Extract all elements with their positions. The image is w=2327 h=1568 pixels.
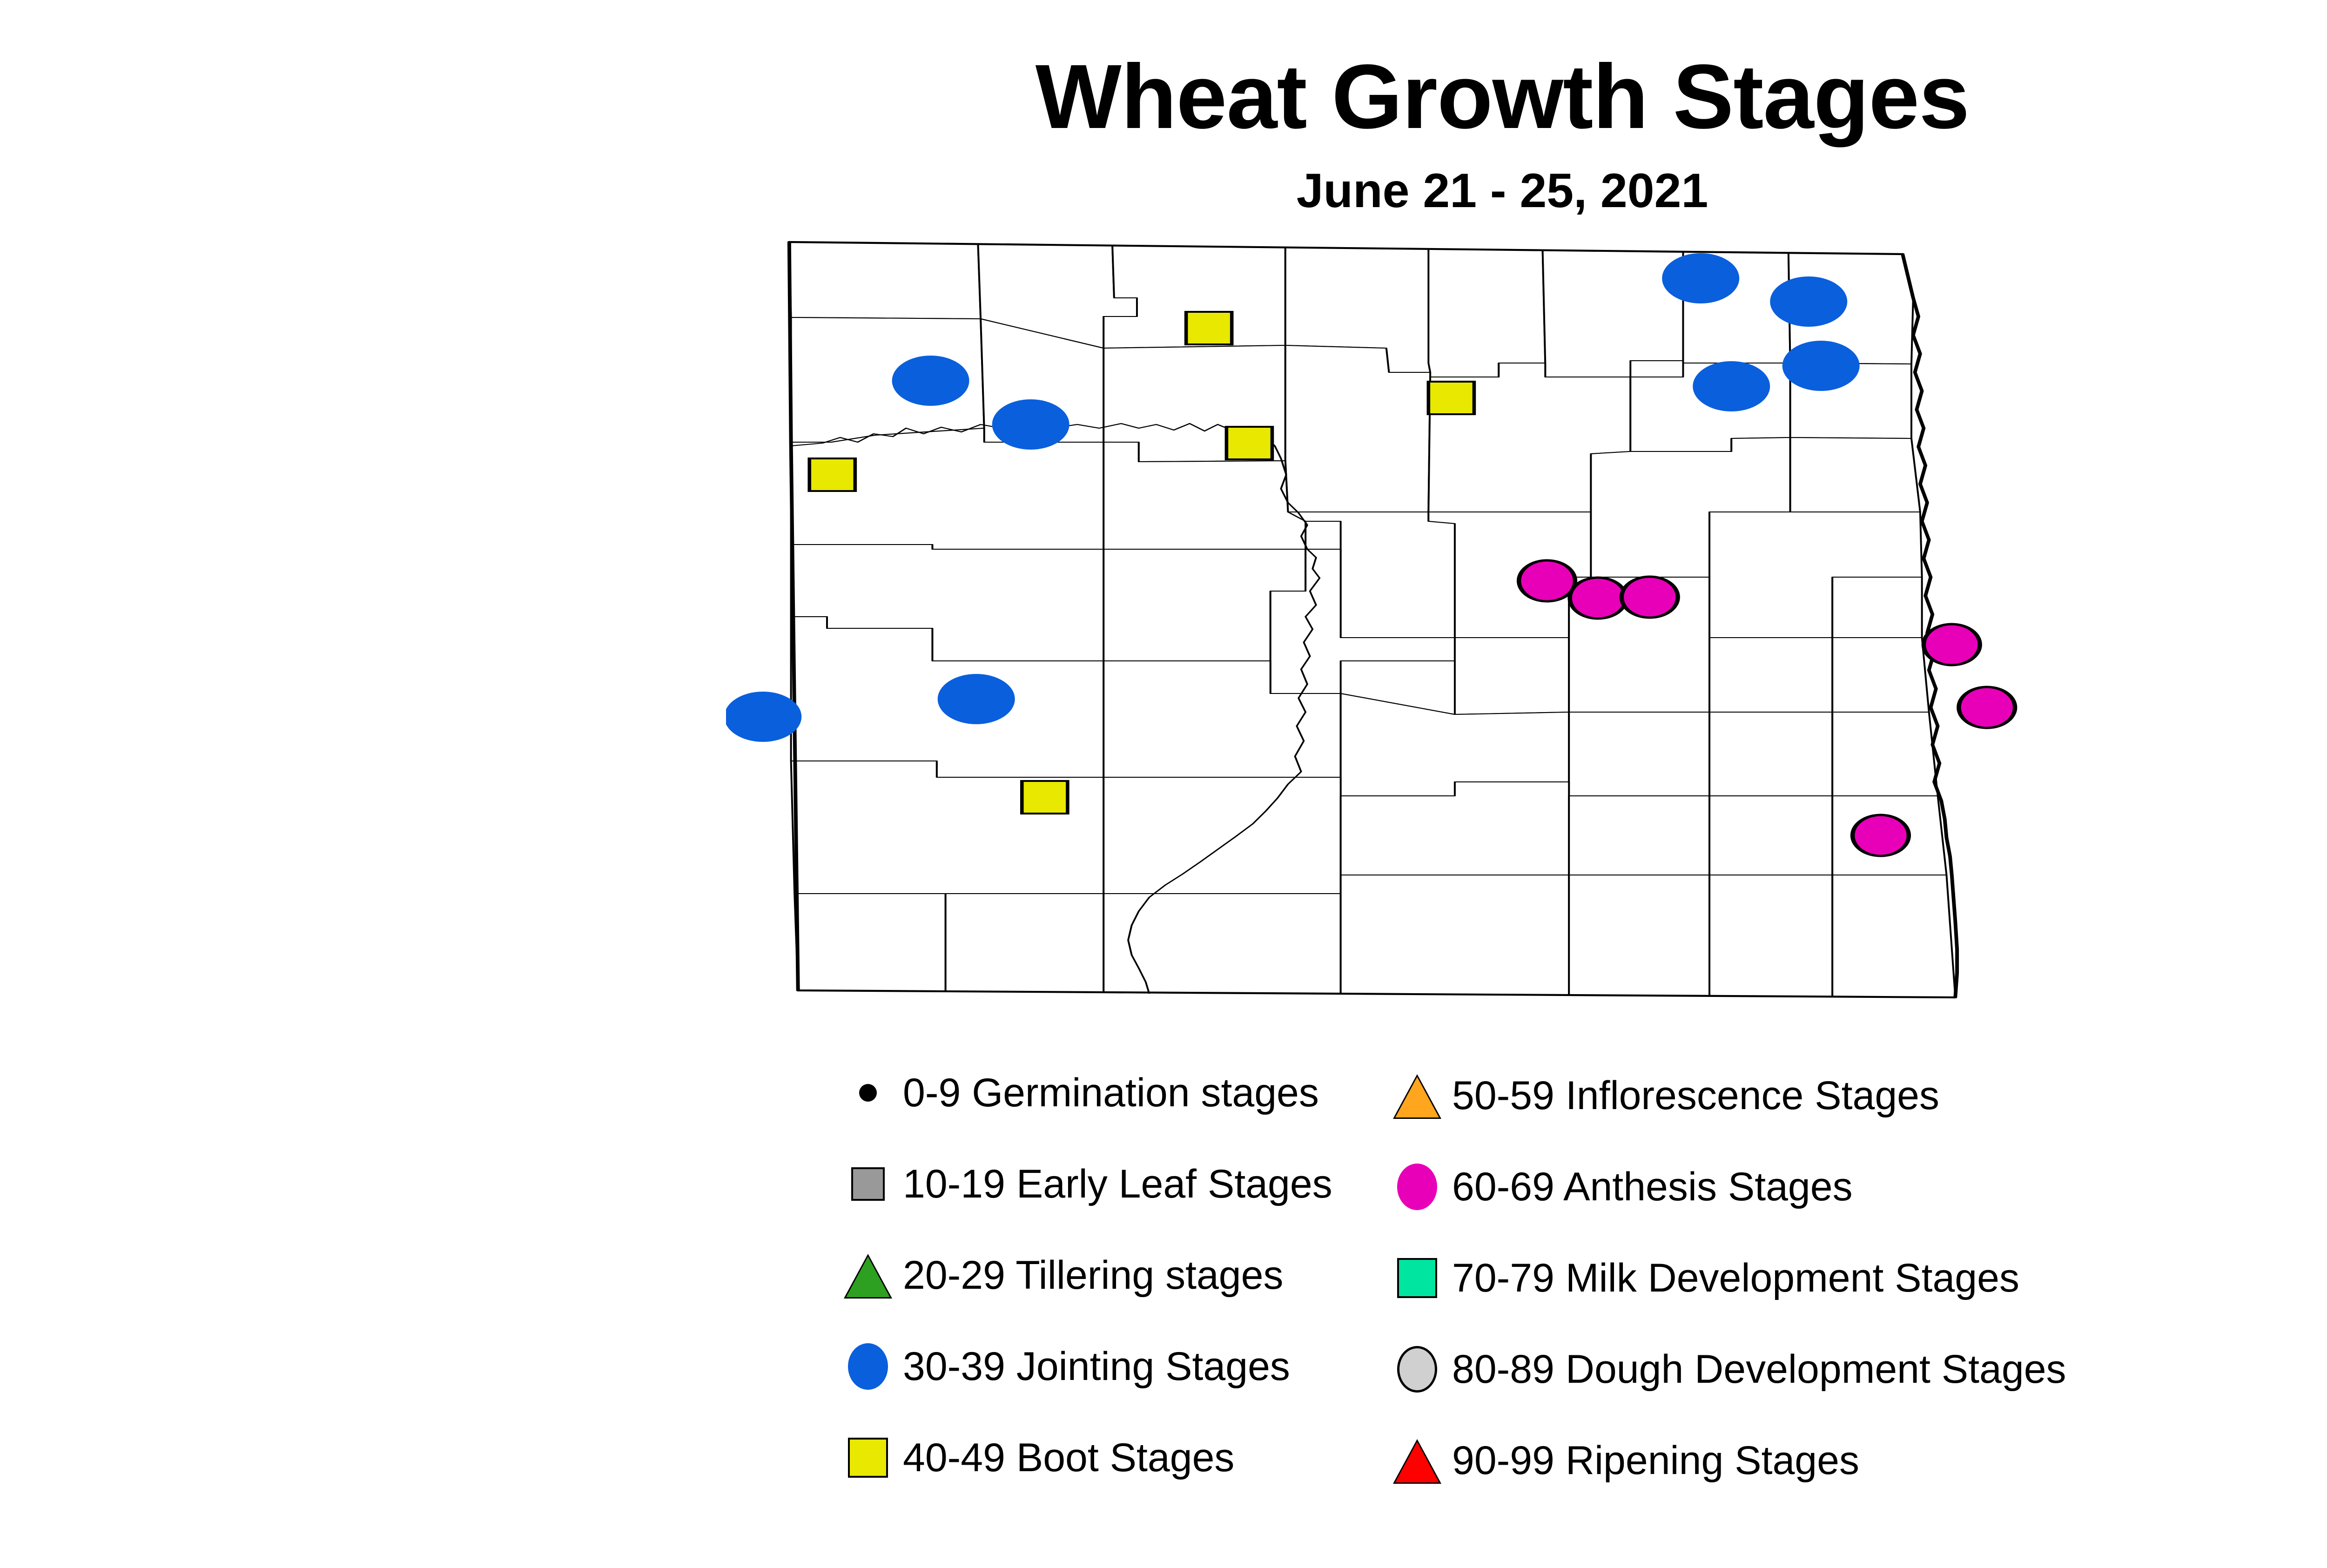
- legend-item-label: 80-89 Dough Development Stages: [1452, 1349, 2066, 1389]
- legend-symbol-boot: [833, 1423, 903, 1493]
- tillering-swatch-icon: [844, 1254, 892, 1297]
- legend-item-label: 40-49 Boot Stages: [903, 1438, 1234, 1478]
- legend-item-anthesis[interactable]: 60-69 Anthesis Stages: [1382, 1141, 2327, 1232]
- legend-item-label: 0-9 Germination stages: [903, 1073, 1319, 1113]
- jointing-swatch-icon: [848, 1343, 888, 1390]
- legend-item-label: 20-29 Tillering stages: [903, 1255, 1283, 1295]
- map-marker: [1022, 781, 1068, 814]
- map-marker: [1693, 361, 1770, 411]
- map-marker: [1621, 577, 1678, 618]
- map-marker: [1226, 427, 1272, 459]
- legend-item-label: 70-79 Milk Development Stages: [1452, 1258, 2019, 1298]
- legend-item-boot[interactable]: 40-49 Boot Stages: [833, 1412, 1368, 1503]
- legend-item-label: 50-59 Inflorescence Stages: [1452, 1076, 1939, 1116]
- legend-symbol-early-leaf: [833, 1149, 903, 1219]
- map-marker: [1662, 253, 1739, 303]
- dough-swatch-icon: [1397, 1346, 1437, 1393]
- legend-item-milk[interactable]: 70-79 Milk Development Stages: [1382, 1232, 2327, 1324]
- map-marker: [992, 399, 1069, 450]
- map-marker: [938, 674, 1015, 724]
- county-layer: [789, 242, 1955, 997]
- map-marker: [809, 458, 855, 491]
- legend-item-ripening[interactable]: 90-99 Ripening Stages: [1382, 1415, 2327, 1506]
- wheat-growth-stages-map-page: Wheat Growth Stages June 21 - 25, 2021: [0, 0, 2327, 1568]
- map-marker: [1519, 560, 1575, 601]
- map-marker: [1186, 312, 1232, 344]
- legend-symbol-jointing: [833, 1332, 903, 1401]
- legend-item-germination[interactable]: 0-9 Germination stages: [833, 1047, 1368, 1138]
- legend-item-jointing[interactable]: 30-39 Jointing Stages: [833, 1321, 1368, 1412]
- legend-symbol-tillering: [833, 1240, 903, 1310]
- legend: 0-9 Germination stages10-19 Early Leaf S…: [833, 1047, 2327, 1513]
- map-marker: [1428, 382, 1474, 414]
- legend-symbol-milk: [1382, 1243, 1452, 1313]
- north-dakota-county-svg: [726, 223, 2043, 1015]
- north-dakota-map: [726, 223, 2043, 1015]
- germination-swatch-icon: [859, 1084, 877, 1102]
- anthesis-swatch-icon: [1397, 1164, 1437, 1210]
- legend-item-label: 10-19 Early Leaf Stages: [903, 1164, 1332, 1204]
- map-marker: [1782, 341, 1860, 391]
- legend-item-label: 90-99 Ripening Stages: [1452, 1440, 1859, 1481]
- ripening-swatch-icon: [1393, 1439, 1441, 1482]
- legend-symbol-germination: [833, 1058, 903, 1128]
- title-block: Wheat Growth Stages June 21 - 25, 2021: [0, 0, 2327, 215]
- early-leaf-swatch-icon: [851, 1167, 885, 1201]
- map-marker: [892, 356, 969, 406]
- legend-symbol-ripening: [1382, 1426, 1452, 1495]
- milk-swatch-icon: [1397, 1258, 1437, 1298]
- legend-item-label: 60-69 Anthesis Stages: [1452, 1167, 1853, 1207]
- legend-symbol-anthesis: [1382, 1152, 1452, 1222]
- legend-item-inflorescence[interactable]: 50-59 Inflorescence Stages: [1382, 1050, 2327, 1141]
- legend-column-left: 0-9 Germination stages10-19 Early Leaf S…: [833, 1047, 1368, 1503]
- map-marker: [1770, 276, 1847, 327]
- page-subtitle: June 21 - 25, 2021: [0, 167, 2327, 215]
- map-marker: [1923, 624, 1980, 665]
- legend-symbol-inflorescence: [1382, 1061, 1452, 1131]
- legend-symbol-dough: [1382, 1334, 1452, 1404]
- legend-item-dough[interactable]: 80-89 Dough Development Stages: [1382, 1324, 2327, 1415]
- page-title: Wheat Growth Stages: [0, 51, 2327, 142]
- map-marker: [1570, 578, 1626, 619]
- boot-swatch-icon: [848, 1438, 888, 1478]
- legend-column-right: 50-59 Inflorescence Stages60-69 Anthesis…: [1382, 1050, 2327, 1506]
- legend-item-early-leaf[interactable]: 10-19 Early Leaf Stages: [833, 1138, 1368, 1230]
- map-marker: [1959, 687, 2015, 728]
- legend-item-label: 30-39 Jointing Stages: [903, 1346, 1290, 1386]
- map-marker: [1853, 815, 1909, 856]
- inflorescence-swatch-icon: [1393, 1074, 1441, 1117]
- map-marker: [726, 692, 801, 742]
- legend-item-tillering[interactable]: 20-29 Tillering stages: [833, 1230, 1368, 1321]
